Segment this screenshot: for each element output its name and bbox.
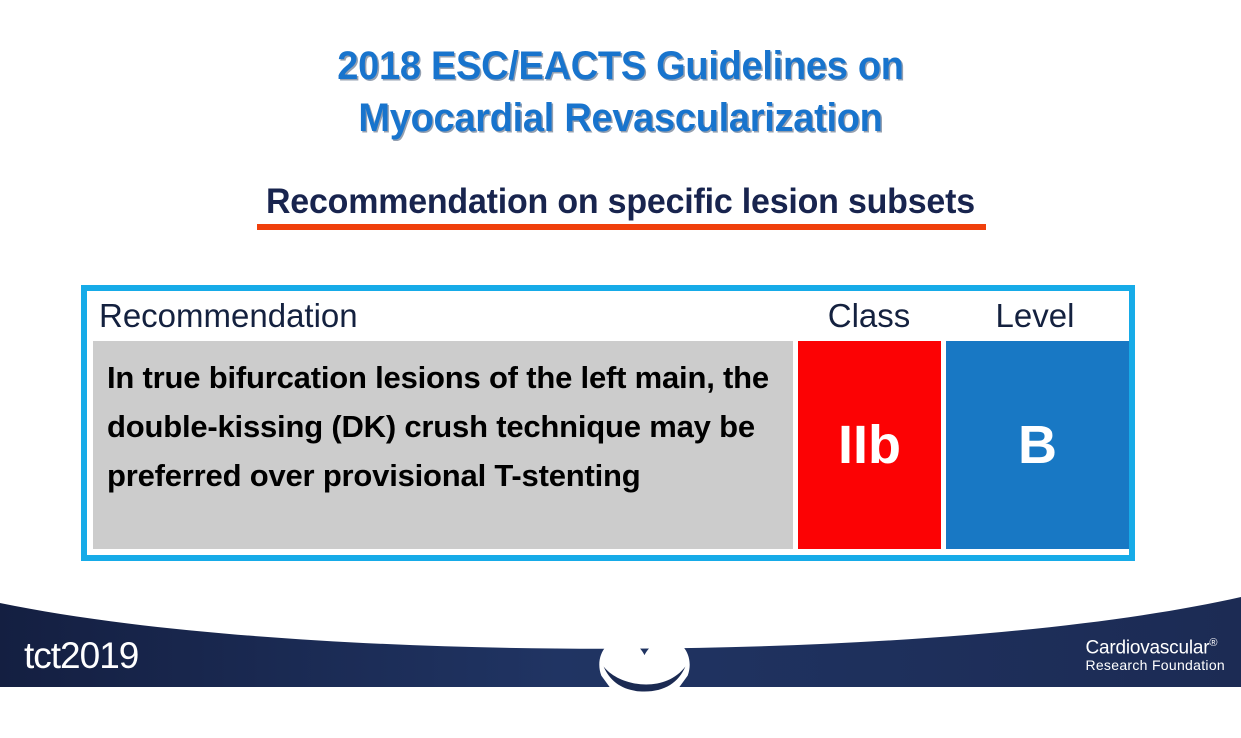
- heart-icon: [24, 637, 1241, 737]
- title-line-1: 2018 ESC/EACTS Guidelines on: [31, 40, 1210, 92]
- subtitle-text: Recommendation on specific lesion subset…: [266, 181, 975, 222]
- table-row: In true bifurcation lesions of the left …: [93, 341, 793, 549]
- subtitle-inner: Recommendation on specific lesion subset…: [255, 181, 986, 232]
- footer-banner: tct2019 Cardiovascular® Research Foundat…: [0, 587, 1241, 687]
- crf-logo: Cardiovascular® Research Foundation: [1085, 638, 1225, 673]
- page-title: 2018 ESC/EACTS Guidelines on Myocardial …: [0, 40, 1241, 144]
- table-header-recommendation: Recommendation: [99, 291, 789, 341]
- class-value: IIb: [838, 418, 901, 472]
- tct-logo: tct2019: [24, 637, 138, 675]
- subtitle-block: Recommendation on specific lesion subset…: [0, 181, 1241, 232]
- recommendation-table: Recommendation Class Level In true bifur…: [81, 285, 1135, 561]
- table-header-level: Level: [949, 291, 1121, 341]
- title-line-2: Myocardial Revascularization: [31, 92, 1210, 144]
- slide-canvas: 2018 ESC/EACTS Guidelines on Myocardial …: [0, 0, 1241, 687]
- heart-icon: [1085, 638, 1241, 738]
- subtitle-underline-rule: [257, 224, 986, 230]
- table-header-class: Class: [797, 291, 941, 341]
- level-badge-cell: B: [946, 341, 1129, 549]
- table-grid: Recommendation Class Level In true bifur…: [87, 291, 1129, 555]
- class-badge-cell: IIb: [798, 341, 941, 549]
- level-value: B: [1018, 418, 1057, 472]
